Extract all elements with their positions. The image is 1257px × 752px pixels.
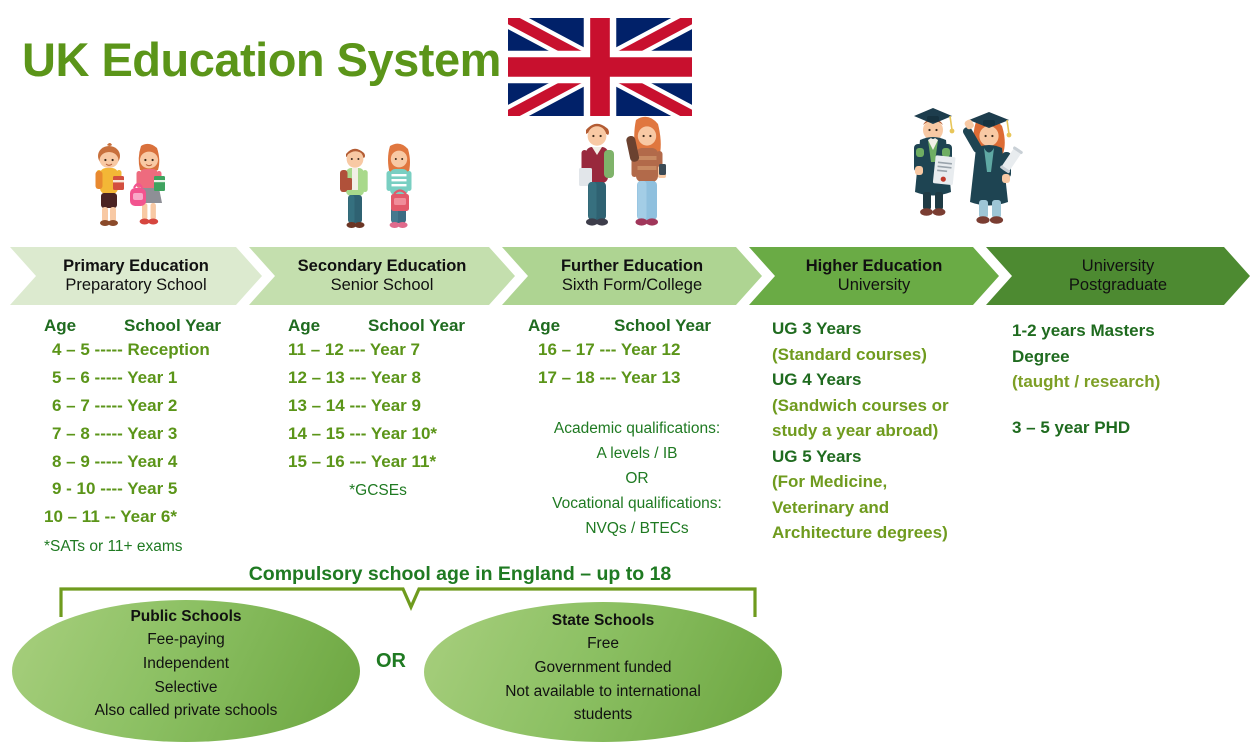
- stage-banner-row: Primary Education Preparatory School Sec…: [10, 247, 1250, 305]
- state-schools-title: State Schools: [552, 610, 655, 632]
- or-label: OR: [376, 650, 406, 673]
- secondary-row: 11 – 12 --- Year 7: [288, 336, 518, 364]
- masters-note: (taught / research): [1012, 369, 1242, 395]
- further-qualification-line: Academic qualifications:: [528, 416, 746, 441]
- further-qualification-line: NVQs / BTECs: [528, 516, 746, 541]
- stage-banner-higher[interactable]: Higher Education University: [749, 247, 999, 305]
- state-schools-line: students: [574, 703, 633, 727]
- further-qualification-line: OR: [528, 466, 746, 491]
- page-title: UK Education System: [22, 32, 501, 87]
- secondary-row: 15 – 16 --- Year 11*: [288, 448, 518, 476]
- primary-school-children-illustration: [78, 140, 186, 245]
- column-secondary-header: Age School Year: [288, 316, 518, 336]
- secondary-row: 13 – 14 --- Year 9: [288, 392, 518, 420]
- public-schools-line: Independent: [143, 652, 229, 676]
- stage-banner-primary[interactable]: Primary Education Preparatory School: [10, 247, 262, 305]
- higher-entry-title: UG 5 Years: [772, 444, 1002, 470]
- column-further: Age School Year 16 – 17 --- Year 12 17 –…: [528, 316, 758, 541]
- phd-line: 3 – 5 year PHD: [1012, 415, 1242, 441]
- public-schools-title: Public Schools: [130, 606, 241, 628]
- primary-row: 10 – 11 -- Year 6*: [44, 503, 274, 531]
- stage-banner-further-line2: Sixth Form/College: [562, 276, 702, 295]
- column-primary: Age School Year 4 – 5 ----- Reception 5 …: [44, 316, 274, 558]
- graduates-illustration: [898, 100, 1048, 248]
- header-school-year: School Year: [614, 316, 711, 336]
- stage-banner-further[interactable]: Further Education Sixth Form/College: [502, 247, 762, 305]
- column-further-header: Age School Year: [528, 316, 758, 336]
- stage-banner-higher-line1: Higher Education: [806, 257, 943, 276]
- further-qualification-line: A levels / IB: [528, 441, 746, 466]
- stage-banner-primary-line2: Preparatory School: [65, 276, 206, 295]
- secondary-row: 14 – 15 --- Year 10*: [288, 420, 518, 448]
- header-age: Age: [288, 316, 368, 336]
- primary-row: 9 - 10 ---- Year 5: [52, 475, 274, 503]
- spacer: [1012, 395, 1242, 415]
- higher-entry-note: (Standard courses): [772, 342, 1002, 368]
- state-schools-line: Free: [587, 632, 619, 656]
- infographic-canvas: UK Education System: [0, 0, 1257, 752]
- column-higher: UG 3 Years (Standard courses) UG 4 Years…: [772, 316, 1002, 546]
- masters-line2: Degree: [1012, 344, 1242, 370]
- primary-footnote: *SATs or 11+ exams: [44, 535, 274, 558]
- primary-row: 4 – 5 ----- Reception: [52, 336, 274, 364]
- state-schools-line: Not available to international: [505, 680, 701, 704]
- stage-banner-postgraduate[interactable]: University Postgraduate: [986, 247, 1250, 305]
- column-secondary: Age School Year 11 – 12 --- Year 7 12 – …: [288, 316, 518, 503]
- header-age: Age: [44, 316, 124, 336]
- masters-line1: 1-2 years Masters: [1012, 318, 1242, 344]
- column-postgraduate: 1-2 years Masters Degree (taught / resea…: [1012, 318, 1242, 440]
- stage-banner-postgraduate-line1: University: [1082, 257, 1154, 276]
- primary-row: 5 – 6 ----- Year 1: [52, 364, 274, 392]
- stage-banner-further-line1: Further Education: [561, 257, 703, 276]
- secondary-footnote: *GCSEs: [288, 479, 468, 502]
- stage-banner-postgraduate-line2: Postgraduate: [1069, 276, 1167, 295]
- stage-banner-secondary-line2: Senior School: [331, 276, 434, 295]
- primary-row: 8 – 9 ----- Year 4: [52, 448, 274, 476]
- public-schools-line: Also called private schools: [95, 699, 278, 723]
- public-schools-line: Selective: [155, 676, 218, 700]
- sixth-form-students-illustration: [570, 110, 690, 248]
- secondary-row: 12 – 13 --- Year 8: [288, 364, 518, 392]
- further-qualification-line: Vocational qualifications:: [528, 491, 746, 516]
- spacer: [528, 392, 758, 416]
- higher-entry-note: (For Medicine,: [772, 469, 1002, 495]
- header-school-year: School Year: [124, 316, 221, 336]
- further-row: 17 – 18 --- Year 13: [538, 364, 758, 392]
- union-jack-flag: [508, 18, 692, 116]
- column-primary-header: Age School Year: [44, 316, 274, 336]
- header-school-year: School Year: [368, 316, 465, 336]
- state-schools-line: Government funded: [534, 656, 671, 680]
- higher-entry-title: UG 4 Years: [772, 367, 1002, 393]
- state-schools-bubble[interactable]: State Schools Free Government funded Not…: [424, 602, 782, 742]
- primary-row: 6 – 7 ----- Year 2: [52, 392, 274, 420]
- higher-entry-note: Architecture degrees): [772, 520, 1002, 546]
- higher-entry-note: study a year abroad): [772, 418, 1002, 444]
- further-row: 16 – 17 --- Year 12: [538, 336, 758, 364]
- stage-banner-higher-line2: University: [838, 276, 910, 295]
- header-age: Age: [528, 316, 614, 336]
- secondary-school-students-illustration: [328, 138, 438, 246]
- stage-banner-secondary-line1: Secondary Education: [298, 257, 467, 276]
- stage-banner-primary-line1: Primary Education: [63, 257, 209, 276]
- higher-entry-note: Veterinary and: [772, 495, 1002, 521]
- stage-banner-secondary[interactable]: Secondary Education Senior School: [249, 247, 515, 305]
- higher-entry-title: UG 3 Years: [772, 316, 1002, 342]
- public-schools-line: Fee-paying: [147, 628, 225, 652]
- higher-entry-note: (Sandwich courses or: [772, 393, 1002, 419]
- primary-row: 7 – 8 ----- Year 3: [52, 420, 274, 448]
- public-schools-bubble[interactable]: Public Schools Fee-paying Independent Se…: [12, 600, 360, 742]
